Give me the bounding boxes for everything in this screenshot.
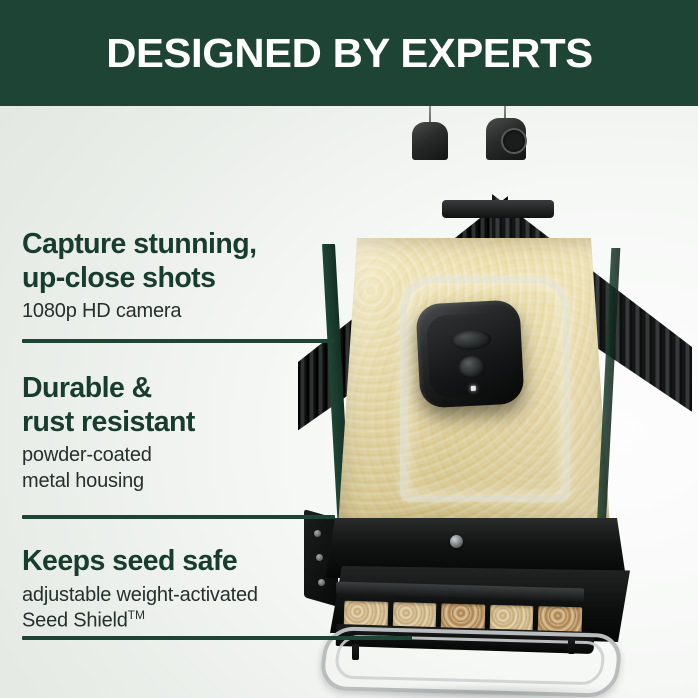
header-band: DESIGNED BY EXPERTS bbox=[0, 0, 698, 106]
page-title: DESIGNED BY EXPERTS bbox=[106, 33, 592, 74]
feature-item-seed-safety: Keeps seed safe adjustable weight-activa… bbox=[22, 545, 367, 634]
camera-sensor-icon bbox=[458, 355, 485, 378]
camera-face bbox=[426, 312, 514, 398]
roof-ridge bbox=[442, 200, 554, 218]
camera-module bbox=[415, 299, 524, 408]
feature-item-camera: Capture stunning, up-close shots 1080p H… bbox=[22, 228, 342, 325]
feature-title: Durable & rust resistant bbox=[22, 372, 342, 439]
feature-divider bbox=[22, 339, 335, 343]
camera-lens-icon bbox=[451, 329, 492, 351]
feature-divider bbox=[22, 515, 335, 519]
feature-title: Keeps seed safe bbox=[22, 545, 367, 579]
feature-subtitle: 1080p HD camera bbox=[22, 299, 342, 325]
perch-leg bbox=[568, 638, 575, 654]
feature-subtitle: adjustable weight-activated Seed ShieldT… bbox=[22, 583, 367, 635]
feature-title: Capture stunning, up-close shots bbox=[22, 228, 342, 295]
housing-screw bbox=[450, 535, 463, 548]
feature-subtitle: powder-coated metal housing bbox=[22, 443, 342, 494]
perch-leg bbox=[352, 644, 359, 660]
product-shadow bbox=[352, 684, 632, 698]
seed-compartment bbox=[538, 606, 582, 633]
seed-compartment bbox=[489, 605, 533, 632]
perch-bar-inner bbox=[333, 635, 607, 686]
feature-item-durability: Durable & rust resistant powder-coated m… bbox=[22, 372, 342, 494]
feature-divider bbox=[22, 636, 412, 640]
bracket-bolt bbox=[314, 530, 321, 537]
infographic-canvas: DESIGNED BY EXPERTS bbox=[0, 0, 698, 698]
trademark-symbol: TM bbox=[128, 608, 145, 622]
camera-led-indicator bbox=[471, 386, 476, 391]
